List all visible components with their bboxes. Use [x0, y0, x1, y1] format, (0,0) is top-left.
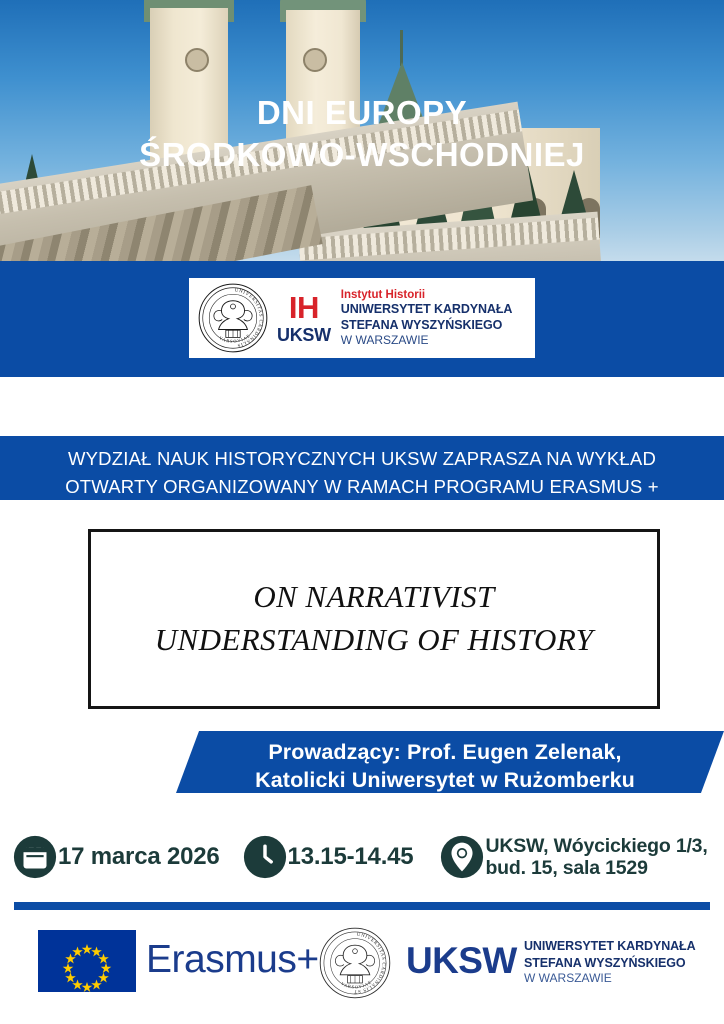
location-line-2: bud. 15, sala 1529 [485, 857, 707, 879]
institute-name: Instytut Historii [341, 288, 531, 302]
event-date: 17 marca 2026 [58, 844, 220, 870]
lecture-title: ON NARRATIVIST UNDERSTANDING OF HISTORY [155, 576, 593, 662]
map-pin-icon [439, 834, 485, 880]
invitation-line-1: WYDZIAŁ NAUK HISTORYCZNYCH UKSW ZAPRASZA… [0, 445, 724, 473]
speaker-banner: Prowadzący: Prof. Eugen Zelenak, Katolic… [176, 731, 724, 793]
speaker-text: Prowadzący: Prof. Eugen Zelenak, Katolic… [176, 731, 724, 793]
event-time: 13.15-14.45 [288, 844, 414, 870]
footer-line-2: STEFANA WYSZYŃSKIEGO [524, 955, 696, 972]
footer-university-text: UNIWERSYTET KARDYNAŁA STEFANA WYSZYŃSKIE… [524, 938, 696, 987]
uksw-wordmark: UKSW [406, 942, 517, 979]
uksw-seal-emblem: UNIVERSITAS CARDINALIS STEPHANI WYSZYNSK… [318, 926, 392, 1000]
lecture-title-box: ON NARRATIVIST UNDERSTANDING OF HISTORY [88, 529, 660, 709]
erasmus-plus-wordmark: Erasmus+ [146, 940, 319, 979]
calendar-icon [12, 834, 58, 880]
uksw-abbreviation: UKSW [277, 326, 331, 344]
european-union-flag [38, 930, 136, 992]
hero-photo: DNI EUROPY ŚRODKOWO-WSCHODNIEJ [0, 0, 724, 262]
university-name-line-2: STEFANA WYSZYŃSKIEGO [341, 318, 531, 333]
footer-line-1: UNIWERSYTET KARDYNAŁA [524, 938, 696, 955]
location-line-1: UKSW, Wóycickiego 1/3, [485, 835, 707, 857]
poster-main-heading: DNI EUROPY ŚRODKOWO-WSCHODNIEJ [0, 0, 724, 262]
footer-line-3: W WARSZAWIE [524, 971, 696, 987]
heading-line-1: DNI EUROPY [0, 92, 724, 134]
clock-icon [242, 834, 288, 880]
institute-logo-band: UNIVERSITAS CARDINALIS STEPHANI WYSZYNSK… [0, 261, 724, 377]
event-date-item: 17 marca 2026 [12, 834, 220, 880]
heading-line-2: ŚRODKOWO-WSCHODNIEJ [0, 134, 724, 176]
event-details-row: 17 marca 2026 13.15-14.45 UKSW, Wóycicki… [12, 826, 724, 888]
event-poster: DNI EUROPY ŚRODKOWO-WSCHODNIEJ UNIVERSI [0, 0, 724, 1024]
uksw-seal-emblem: UNIVERSITAS CARDINALIS STEPHANI WYSZYNSK… [197, 282, 269, 354]
lecture-title-line-1: ON NARRATIVIST [155, 576, 593, 619]
eu-stars [38, 930, 136, 992]
footer-logos: Erasmus+ UNIVERSITAS CARDINALIS STEPHANI… [0, 916, 724, 1024]
lecture-title-line-2: UNDERSTANDING OF HISTORY [155, 619, 593, 662]
institute-logo-text: Instytut Historii UNIWERSYTET KARDYNAŁA … [341, 288, 531, 347]
university-city: W WARSZAWIE [341, 333, 531, 348]
invitation-line-2: OTWARTY ORGANIZOWANY W RAMACH PROGRAMU E… [0, 473, 724, 501]
section-divider [14, 902, 710, 910]
invitation-banner: WYDZIAŁ NAUK HISTORYCZNYCH UKSW ZAPRASZA… [0, 436, 724, 500]
ih-abbreviation: IH [277, 292, 331, 323]
ih-uksw-wordmark: IH UKSW [277, 292, 331, 344]
speaker-line-1: Prowadzący: Prof. Eugen Zelenak, [176, 738, 714, 766]
university-name-line-1: UNIWERSYTET KARDYNAŁA [341, 302, 531, 317]
event-location-item: UKSW, Wóycickiego 1/3, bud. 15, sala 152… [439, 834, 707, 880]
institute-of-history-logo: UNIVERSITAS CARDINALIS STEPHANI WYSZYNSK… [189, 278, 535, 358]
event-time-item: 13.15-14.45 [242, 834, 414, 880]
event-location: UKSW, Wóycickiego 1/3, bud. 15, sala 152… [485, 835, 707, 879]
speaker-line-2: Katolicki Uniwersytet w Rużomberku [176, 766, 714, 794]
